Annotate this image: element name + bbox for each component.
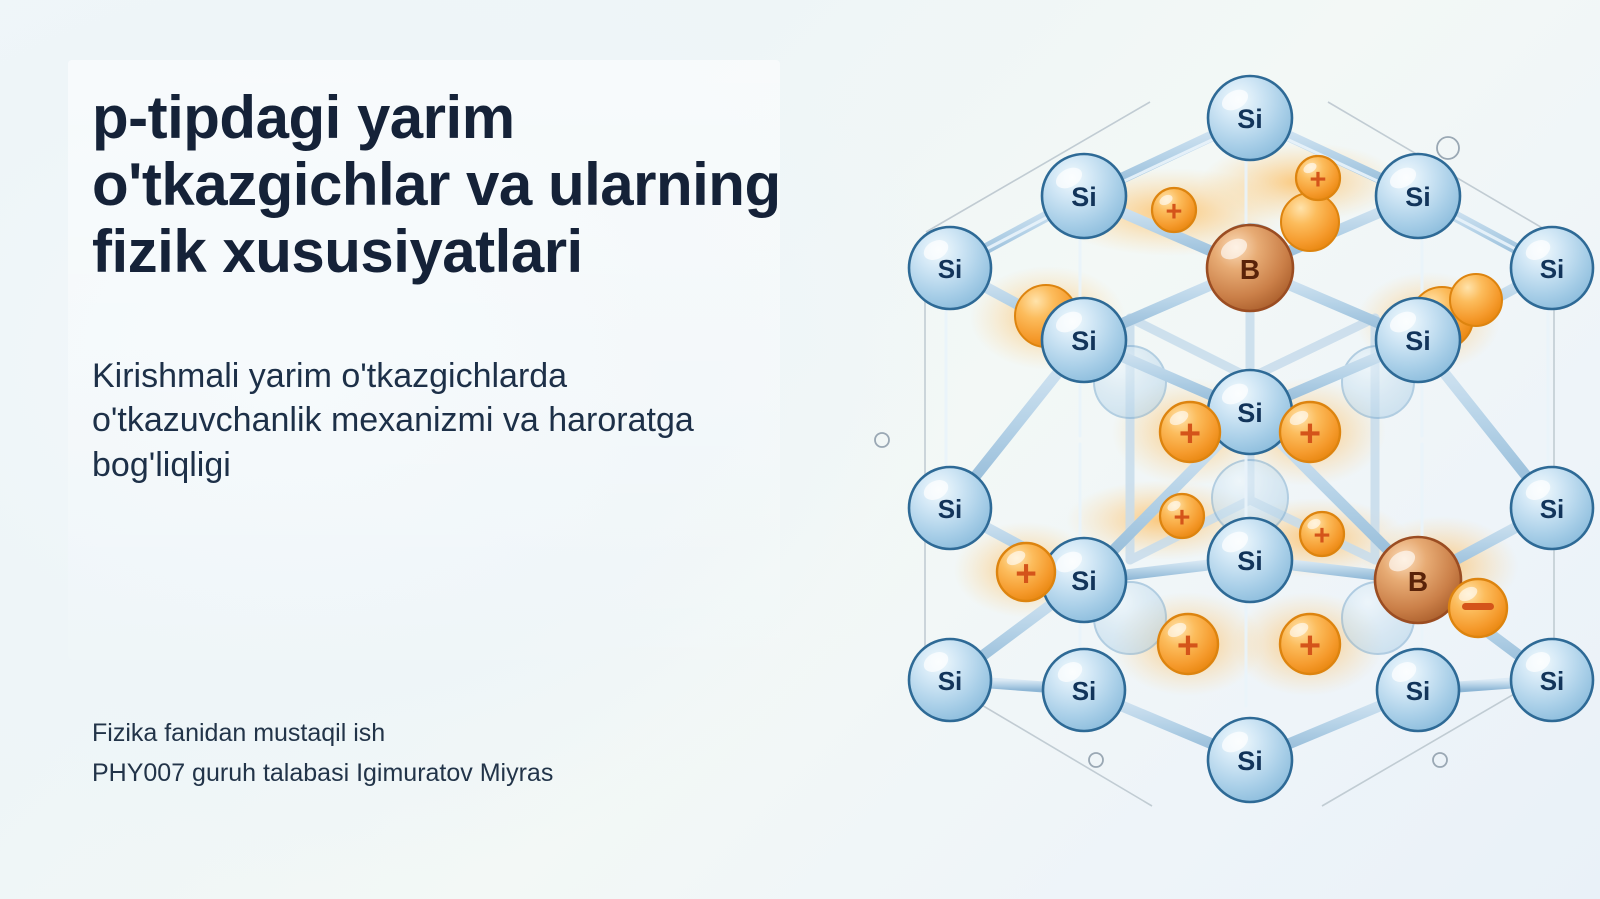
- svg-text:Si: Si: [1540, 666, 1565, 696]
- hole-marker-plus-small: +: [1160, 494, 1204, 538]
- atom-silicon: Si: [1043, 649, 1125, 731]
- atom-silicon: Si: [1376, 298, 1460, 382]
- hole-marker-plus: +: [1280, 614, 1340, 674]
- author-footer: Fizika fanidan mustaqil ish PHY007 guruh…: [92, 714, 792, 793]
- svg-text:Si: Si: [1072, 676, 1097, 706]
- atom-silicon: Si: [1377, 649, 1459, 731]
- atom-boron: B: [1207, 225, 1293, 311]
- svg-text:Si: Si: [938, 494, 963, 524]
- atom-silicon: Si: [1511, 467, 1593, 549]
- presentation-slide: p-tipdagi yarim o'tkazgichlar va ularnin…: [0, 0, 1600, 899]
- svg-text:Si: Si: [1071, 566, 1097, 596]
- hole-marker-plus-small: +: [1152, 188, 1196, 232]
- hole-marker-plus: +: [1160, 402, 1220, 462]
- frame-circle-icon: [1437, 137, 1459, 159]
- svg-text:+: +: [1179, 413, 1201, 455]
- svg-text:Si: Si: [1406, 676, 1431, 706]
- hole-marker-plus: +: [1158, 614, 1218, 674]
- svg-text:Si: Si: [1237, 398, 1263, 428]
- hole-sphere: [1450, 274, 1502, 326]
- hole-sphere: [1281, 193, 1339, 251]
- svg-text:Si: Si: [1237, 546, 1263, 576]
- svg-text:B: B: [1240, 254, 1260, 285]
- svg-text:Si: Si: [1237, 104, 1263, 134]
- svg-text:Si: Si: [1071, 326, 1097, 356]
- atom-silicon: Si: [1042, 154, 1126, 238]
- svg-text:Si: Si: [938, 666, 963, 696]
- atom-silicon: Si: [1208, 718, 1292, 802]
- atom-silicon: Si: [1376, 154, 1460, 238]
- atom-silicon: Si: [1208, 76, 1292, 160]
- frame-circle-icon: [875, 433, 889, 447]
- page-title: p-tipdagi yarim o'tkazgichlar va ularnin…: [92, 84, 792, 286]
- svg-text:Si: Si: [1540, 494, 1565, 524]
- frame-circle-icon: [1089, 753, 1103, 767]
- atom-silicon: Si: [1208, 518, 1292, 602]
- hole-marker-plus-small: +: [1300, 512, 1344, 556]
- svg-text:Si: Si: [938, 254, 963, 284]
- svg-text:+: +: [1166, 196, 1183, 228]
- hole-marker-plus: +: [1280, 402, 1340, 462]
- atom-silicon: Si: [909, 227, 991, 309]
- text-column: p-tipdagi yarim o'tkazgichlar va ularnin…: [92, 84, 792, 488]
- svg-text:B: B: [1408, 566, 1428, 597]
- svg-text:+: +: [1177, 625, 1199, 667]
- svg-text:Si: Si: [1071, 182, 1097, 212]
- svg-text:+: +: [1015, 553, 1037, 594]
- svg-text:+: +: [1299, 625, 1321, 667]
- atom-silicon: Si: [909, 639, 991, 721]
- svg-text:+: +: [1299, 413, 1321, 455]
- svg-text:Si: Si: [1405, 326, 1431, 356]
- svg-text:+: +: [1310, 164, 1327, 196]
- page-subtitle: Kirishmali yarim o'tkazgichlarda o'tkazu…: [92, 354, 792, 489]
- electron-marker-minus: [1449, 579, 1507, 637]
- atom-silicon: Si: [1042, 298, 1126, 382]
- svg-text:Si: Si: [1237, 746, 1263, 776]
- hole-marker-plus: +: [997, 543, 1055, 601]
- atom-silicon: Si: [1511, 639, 1593, 721]
- atom-silicon: Si: [1208, 370, 1292, 454]
- atom-silicon: Si: [909, 467, 991, 549]
- svg-text:Si: Si: [1540, 254, 1565, 284]
- hole-marker-plus-small: +: [1296, 156, 1340, 200]
- svg-text:+: +: [1174, 502, 1191, 534]
- crystal-lattice-figure: Si Si Si B: [830, 0, 1600, 899]
- svg-text:+: +: [1314, 520, 1331, 552]
- atom-silicon: Si: [1511, 227, 1593, 309]
- svg-text:Si: Si: [1405, 182, 1431, 212]
- frame-circle-icon: [1433, 753, 1447, 767]
